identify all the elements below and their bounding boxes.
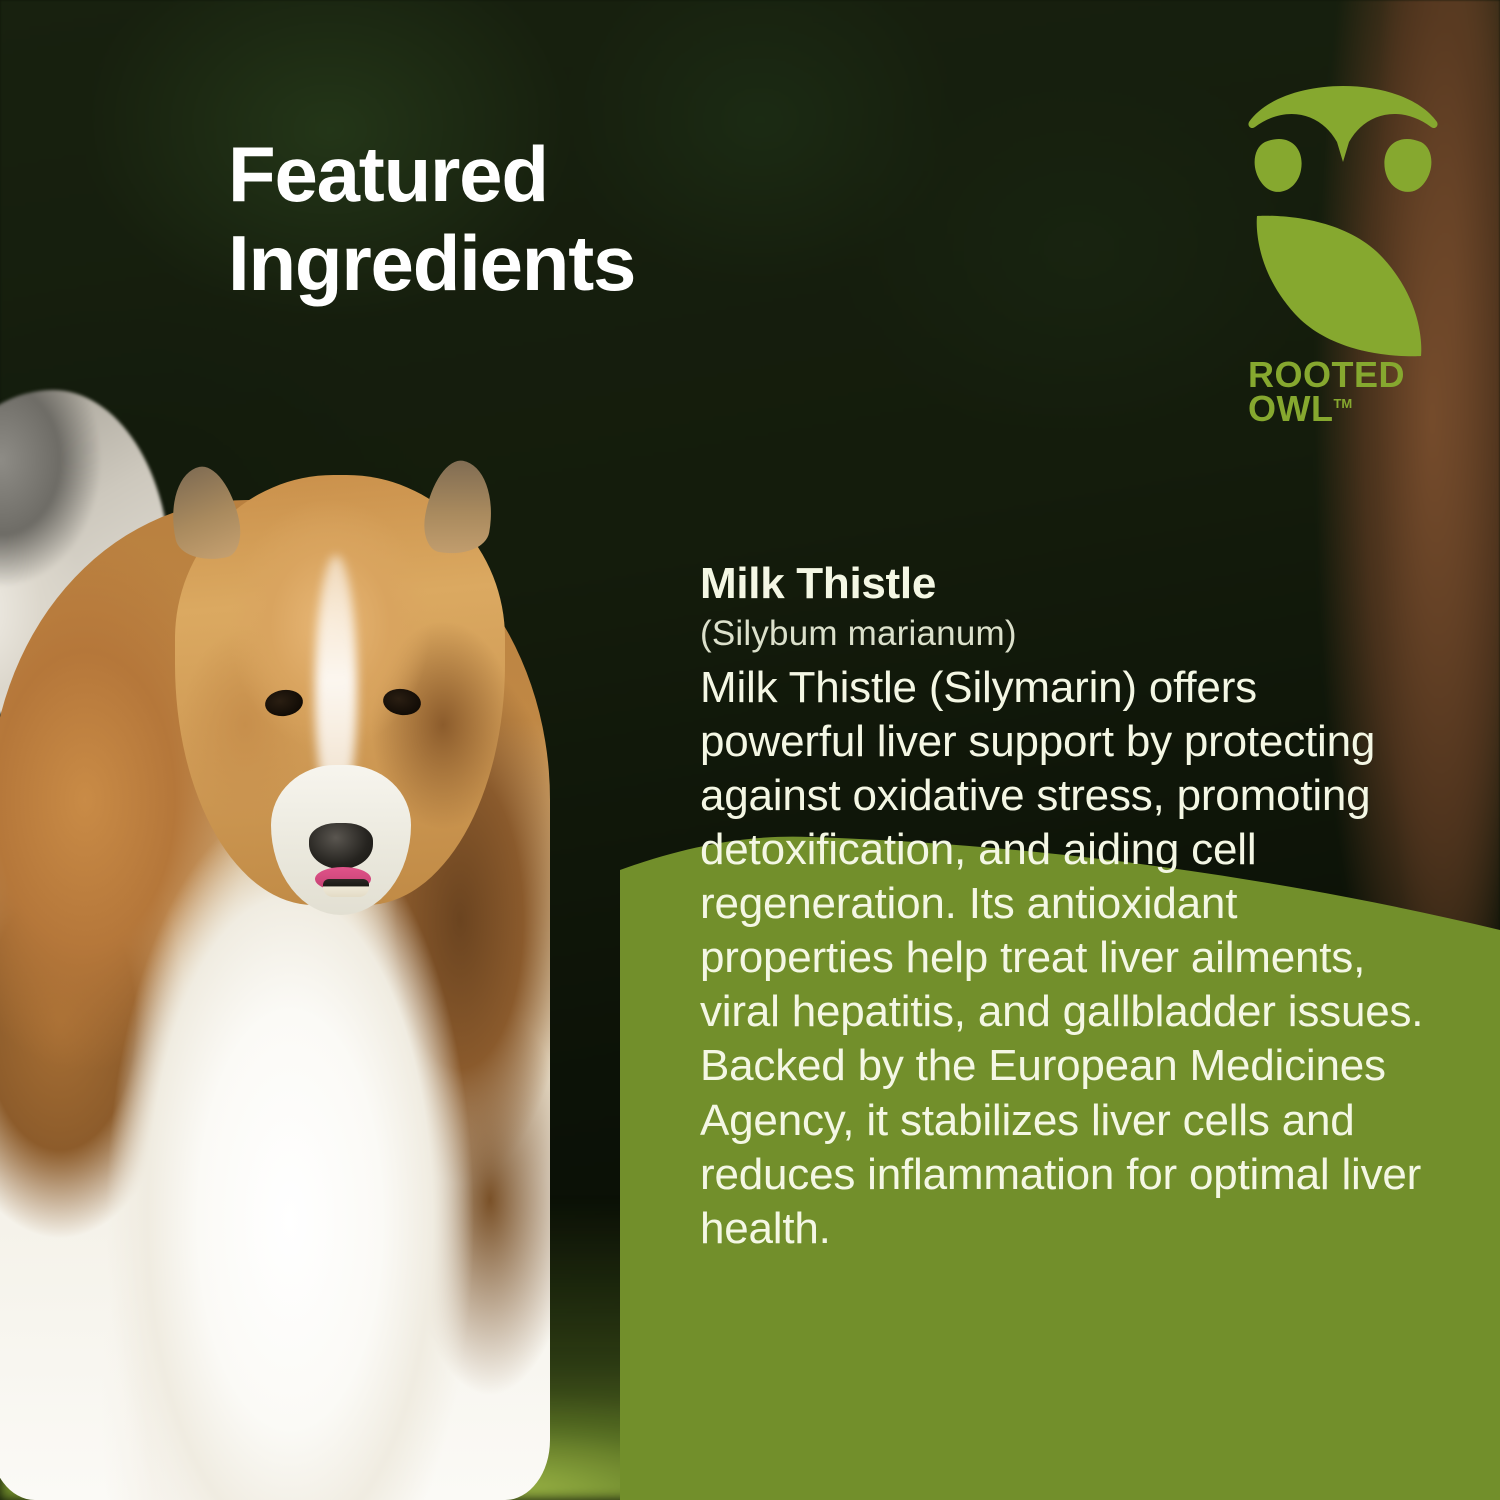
ingredient-description: Milk Thistle (Silymarin) offers powerful… bbox=[700, 661, 1430, 1256]
headline-line-2: Ingredients bbox=[228, 219, 948, 308]
brand-wordmark: ROOTED OWLTM bbox=[1248, 358, 1405, 426]
headline-line-1: Featured bbox=[228, 130, 948, 219]
ingredient-name: Milk Thistle bbox=[700, 560, 1430, 608]
brand-name-line-2: OWLTM bbox=[1248, 392, 1405, 426]
page-title: Featured Ingredients bbox=[228, 130, 948, 308]
brand-name-owl: OWL bbox=[1248, 388, 1333, 429]
dog-head bbox=[175, 475, 505, 905]
dog-eye-left bbox=[263, 687, 304, 718]
ingredient-content: Milk Thistle (Silybum marianum) Milk Thi… bbox=[700, 560, 1430, 1256]
dog-eye-right bbox=[381, 686, 422, 717]
rough-collie-dog-photo bbox=[0, 370, 660, 1500]
brand-logo: ROOTED OWLTM bbox=[1243, 70, 1443, 440]
dog-ear-right bbox=[419, 456, 500, 560]
brand-name-line-1: ROOTED bbox=[1248, 358, 1405, 392]
ingredient-latin-name: (Silybum marianum) bbox=[700, 614, 1430, 654]
infographic-canvas: Featured Ingredients ROOTED OWLTM Milk T… bbox=[0, 0, 1500, 1500]
trademark-symbol: TM bbox=[1333, 396, 1352, 411]
dog-teeth bbox=[323, 879, 369, 897]
owl-leaf-logo-icon bbox=[1243, 70, 1443, 360]
